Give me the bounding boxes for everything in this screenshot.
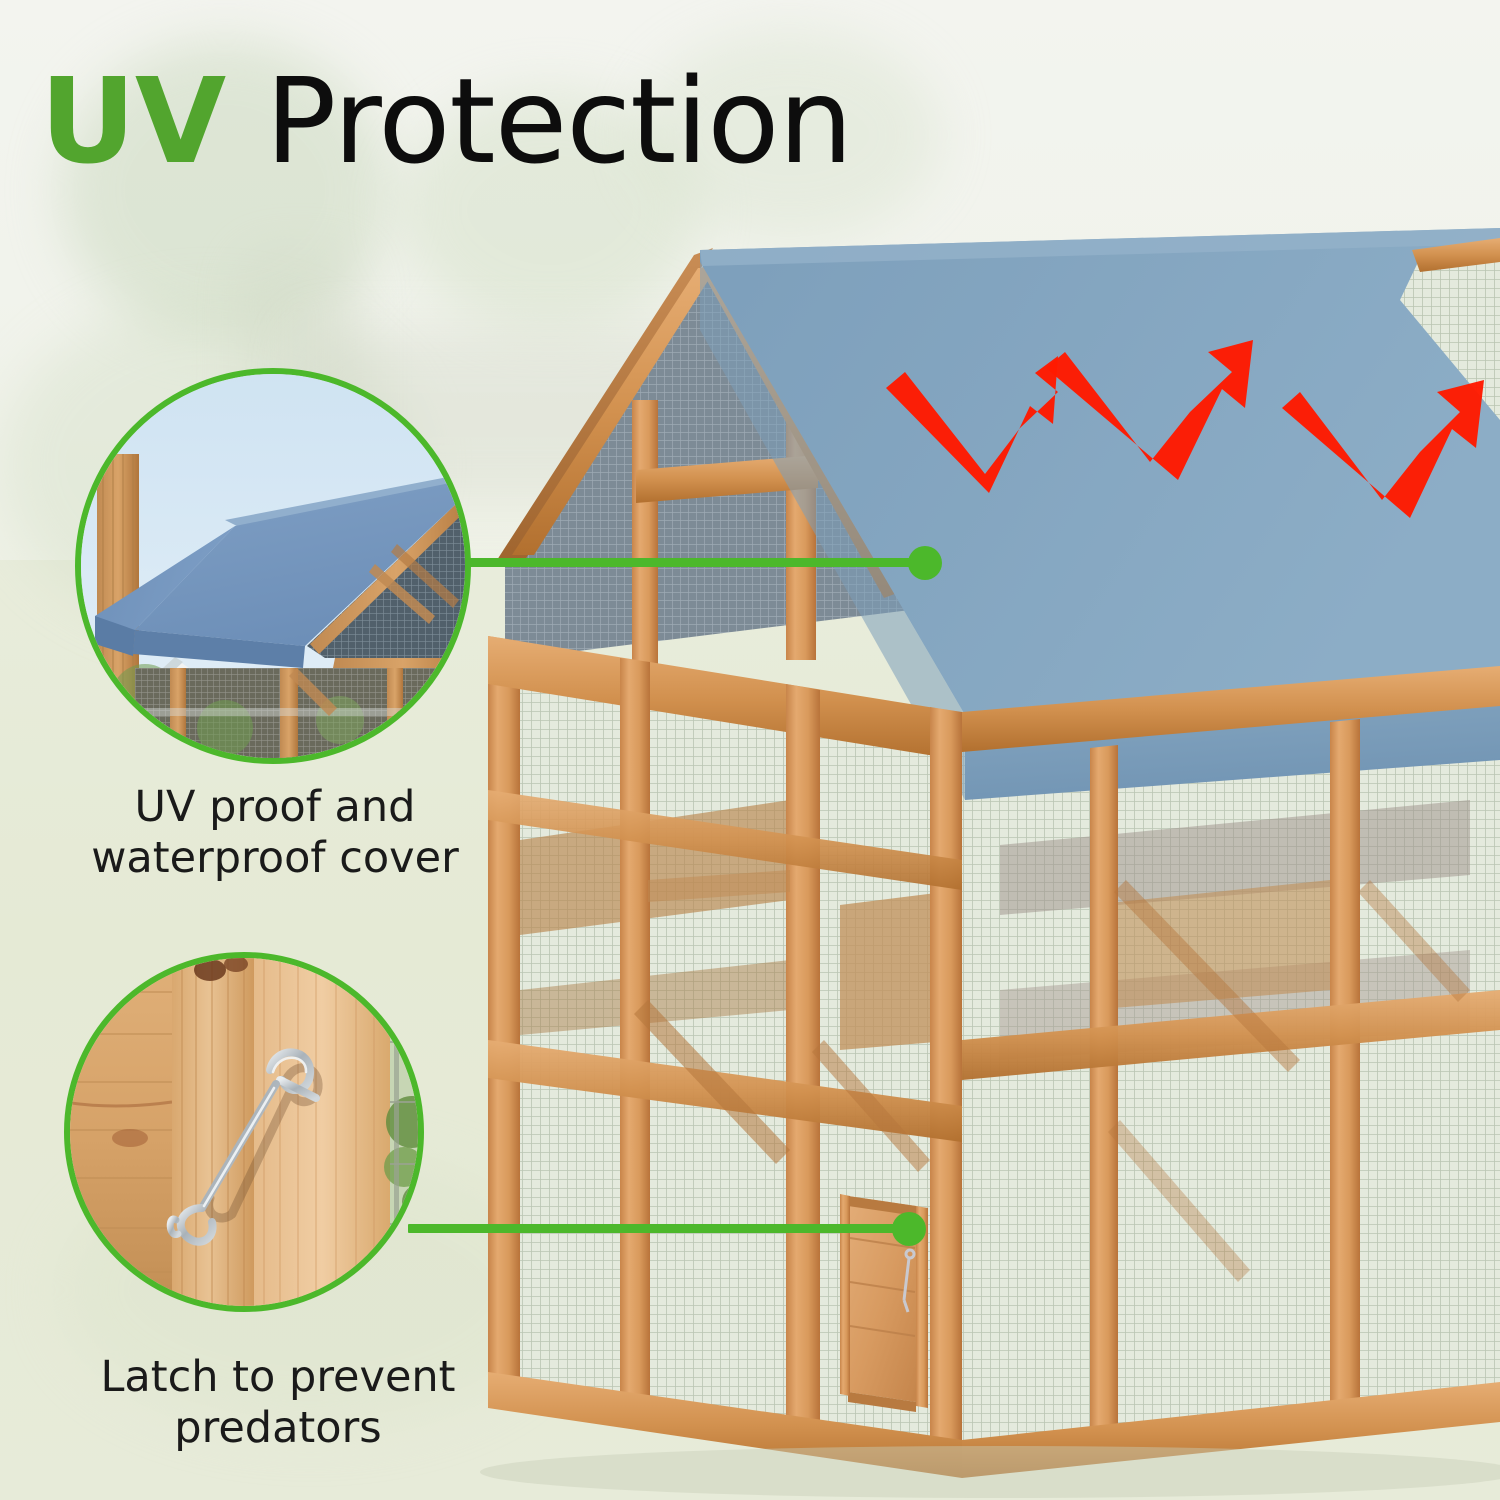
caption-line-2: waterproof cover [55, 833, 495, 884]
caption-line-1: Latch to prevent predators [28, 1352, 528, 1453]
connector-dot-latch [892, 1212, 926, 1246]
callout-image-uv-cover [75, 368, 471, 764]
callout-circle-uv-cover[interactable] [75, 368, 471, 764]
callout-caption-latch: Latch to prevent predators [28, 1352, 528, 1453]
page-title: UV Protection [40, 62, 852, 180]
page-title-rest: Protection [265, 52, 852, 190]
callout-image-latch [64, 952, 424, 1312]
infographic-canvas: UV Protection [0, 0, 1500, 1500]
page-title-highlight: UV [40, 52, 265, 190]
callout-caption-uv-cover: UV proof and waterproof cover [55, 782, 495, 883]
caption-line-1: UV proof and [55, 782, 495, 833]
connector-line-uv-cover [418, 558, 926, 567]
connector-dot-uv-cover [908, 546, 942, 580]
connector-line-latch [408, 1224, 908, 1233]
callout-circle-latch[interactable] [64, 952, 424, 1312]
